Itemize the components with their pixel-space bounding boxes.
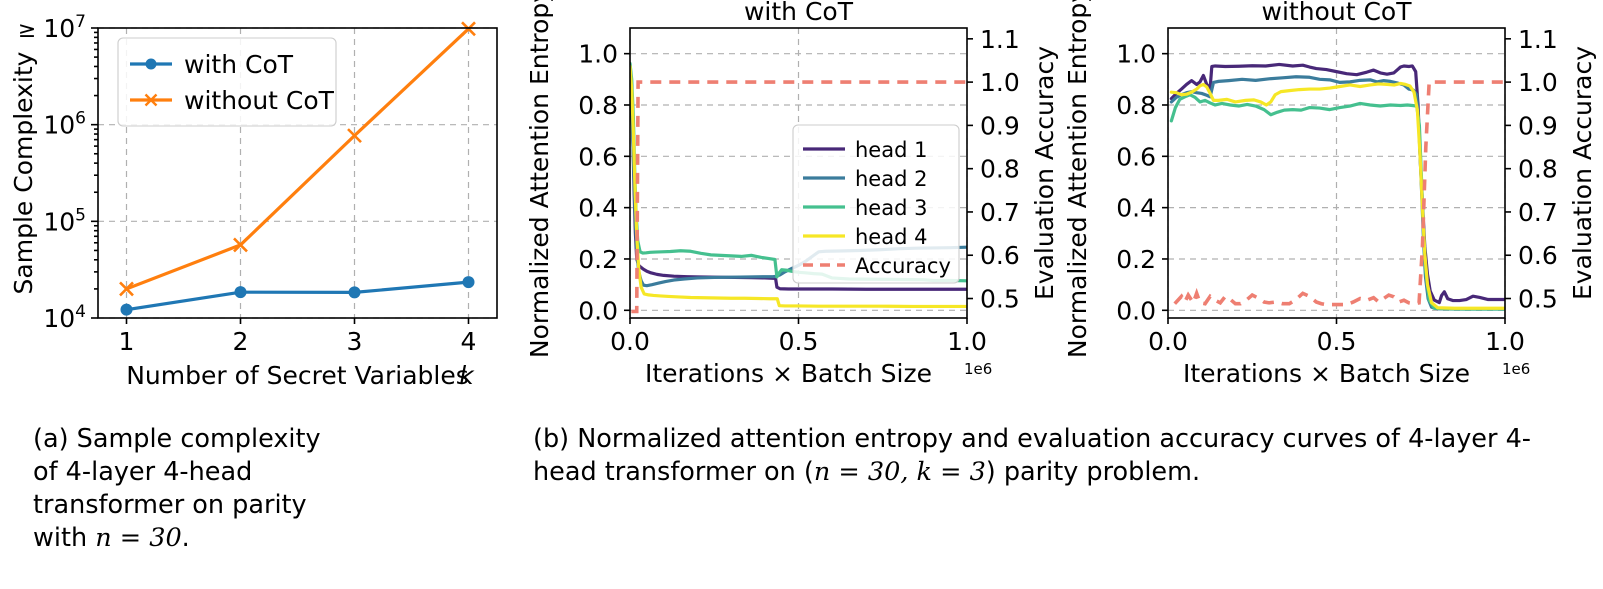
ytick-label-5: 1.0 bbox=[1116, 40, 1156, 69]
xtick-label-2: 3 bbox=[347, 327, 363, 356]
xtick-label-3: 4 bbox=[461, 327, 477, 356]
series-line-head-4 bbox=[1171, 83, 1505, 308]
ytick-label-1: 0.2 bbox=[578, 245, 618, 274]
legend-label-4: Accuracy bbox=[855, 254, 951, 278]
ytick-label-2: 0.4 bbox=[1116, 194, 1156, 223]
legend-label-2: head 3 bbox=[855, 196, 927, 220]
panel-b-without-cot: without CoT0.00.51.00.00.20.40.60.81.00.… bbox=[1058, 0, 1603, 400]
panel-b-with-cot-svg: with CoT0.00.51.00.00.20.40.60.81.00.50.… bbox=[520, 0, 1065, 400]
panel-a-ylabel: Sample Complexity bbox=[9, 51, 38, 294]
ytick-label-0: 0.0 bbox=[578, 296, 618, 325]
ytick-label-1: 105 bbox=[43, 205, 86, 236]
ytick-label-2: 106 bbox=[43, 109, 86, 140]
ytick-right-label-0: 0.5 bbox=[980, 285, 1020, 314]
svg-b2-title: without CoT bbox=[1262, 0, 1413, 26]
panel-a-svg: 1234104105106≥ 107Number of Secret Varia… bbox=[0, 0, 520, 400]
svg-b1-legend: head 1head 2head 3head 4Accuracy bbox=[793, 125, 959, 283]
svg-b2-axes: without CoT0.00.51.00.00.20.40.60.81.00.… bbox=[1063, 0, 1597, 388]
svg-b2-xlabel: Iterations × Batch Size bbox=[1183, 359, 1470, 388]
ytick-right-label-5: 1.0 bbox=[1518, 68, 1558, 97]
svg-b1-ylabel-right: Evaluation Accuracy bbox=[1030, 46, 1059, 300]
ytick-label-1: 0.2 bbox=[1116, 245, 1156, 274]
series-group bbox=[1171, 64, 1505, 309]
xtick-label-2: 1.0 bbox=[1485, 327, 1525, 356]
xtick-label-0: 0.0 bbox=[610, 327, 650, 356]
ytick-label-2: 0.4 bbox=[578, 194, 618, 223]
svg-b2-ylabel: Normalized Attention Entropy bbox=[1063, 0, 1092, 358]
ytick-label-0: 0.0 bbox=[1116, 296, 1156, 325]
panel-a-xlabel: Number of Secret Variables bbox=[126, 361, 469, 390]
ytick-right-label-1: 0.6 bbox=[980, 241, 1020, 270]
svg-b1-xlabel-offset: 1e6 bbox=[964, 360, 992, 378]
ytick-right-label-3: 0.8 bbox=[980, 155, 1020, 184]
ytick-label-3: 0.6 bbox=[578, 142, 618, 171]
svg-b1-ylabel: Normalized Attention Entropy bbox=[525, 0, 554, 358]
panel-a-legend: with CoTwithout CoT bbox=[118, 38, 336, 126]
series-line-with-cot bbox=[127, 282, 469, 310]
ytick-right-label-3: 0.8 bbox=[1518, 155, 1558, 184]
svg-b1-title: with CoT bbox=[744, 0, 854, 26]
figure-root: 1234104105106≥ 107Number of Secret Varia… bbox=[0, 0, 1603, 589]
legend-marker-0 bbox=[146, 59, 157, 70]
ytick-right-label-5: 1.0 bbox=[980, 68, 1020, 97]
marker-point bbox=[349, 286, 361, 298]
series-line-accuracy bbox=[1175, 82, 1505, 304]
marker-point bbox=[121, 304, 133, 316]
xtick-label-0: 1 bbox=[119, 327, 135, 356]
panel-b-with-cot: with CoT0.00.51.00.00.20.40.60.81.00.50.… bbox=[520, 0, 1065, 400]
legend-label-0: with CoT bbox=[184, 50, 294, 79]
panel-a-sample-complexity: 1234104105106≥ 107Number of Secret Varia… bbox=[0, 0, 520, 400]
panel-a-axes: 1234104105106≥ 107Number of Secret Varia… bbox=[9, 12, 497, 390]
ytick-right-label-1: 0.6 bbox=[1518, 241, 1558, 270]
ytick-label-5: 1.0 bbox=[578, 40, 618, 69]
legend-label-1: head 2 bbox=[855, 167, 927, 191]
legend-label-1: without CoT bbox=[184, 86, 335, 115]
ytick-label-0: 104 bbox=[43, 302, 86, 333]
xtick-label-0: 0.0 bbox=[1148, 327, 1188, 356]
caption-b: (b) Normalized attention entropy and eva… bbox=[533, 423, 1573, 489]
caption-b-math: n = 30, k = 3 bbox=[814, 457, 986, 487]
xtick-label-2: 1.0 bbox=[947, 327, 987, 356]
ytick-right-label-2: 0.7 bbox=[980, 198, 1020, 227]
ytick-label-3: 0.6 bbox=[1116, 142, 1156, 171]
legend-label-0: head 1 bbox=[855, 138, 927, 162]
ytick-right-label-6: 1.1 bbox=[1518, 25, 1558, 54]
ytick-right-label-6: 1.1 bbox=[980, 25, 1020, 54]
svg-b2-ylabel-right: Evaluation Accuracy bbox=[1568, 46, 1597, 300]
panel-b-without-cot-svg: without CoT0.00.51.00.00.20.40.60.81.00.… bbox=[1058, 0, 1603, 400]
xtick-label-1: 0.5 bbox=[779, 327, 819, 356]
svg-b1-axes: with CoT0.00.51.00.00.20.40.60.81.00.50.… bbox=[525, 0, 1059, 388]
caption-a-end: . bbox=[182, 523, 190, 553]
caption-b-text-2: ) parity problem. bbox=[986, 457, 1200, 487]
xtick-label-1: 2 bbox=[233, 327, 249, 356]
series-line-head-2 bbox=[1171, 77, 1505, 309]
ytick-label-3: ≥ 107 bbox=[18, 12, 86, 43]
svg-b1-xlabel: Iterations × Batch Size bbox=[645, 359, 932, 388]
ytick-label-4: 0.8 bbox=[578, 91, 618, 120]
marker-point bbox=[235, 286, 247, 298]
series-line-head-3 bbox=[1171, 95, 1505, 309]
svg-b2-xlabel-offset: 1e6 bbox=[1502, 360, 1530, 378]
xtick-label-1: 0.5 bbox=[1317, 327, 1357, 356]
ytick-right-label-4: 0.9 bbox=[980, 111, 1020, 140]
ytick-right-label-2: 0.7 bbox=[1518, 198, 1558, 227]
ytick-label-4: 0.8 bbox=[1116, 91, 1156, 120]
ytick-right-label-0: 0.5 bbox=[1518, 285, 1558, 314]
caption-a: (a) Sample complexity of 4-layer 4-head … bbox=[33, 423, 333, 556]
caption-a-math: n = 30 bbox=[95, 523, 181, 553]
legend-label-3: head 4 bbox=[855, 225, 927, 249]
panel-a-xlabel-math: k bbox=[459, 361, 475, 390]
marker-point bbox=[463, 276, 475, 288]
ytick-right-label-4: 0.9 bbox=[1518, 111, 1558, 140]
